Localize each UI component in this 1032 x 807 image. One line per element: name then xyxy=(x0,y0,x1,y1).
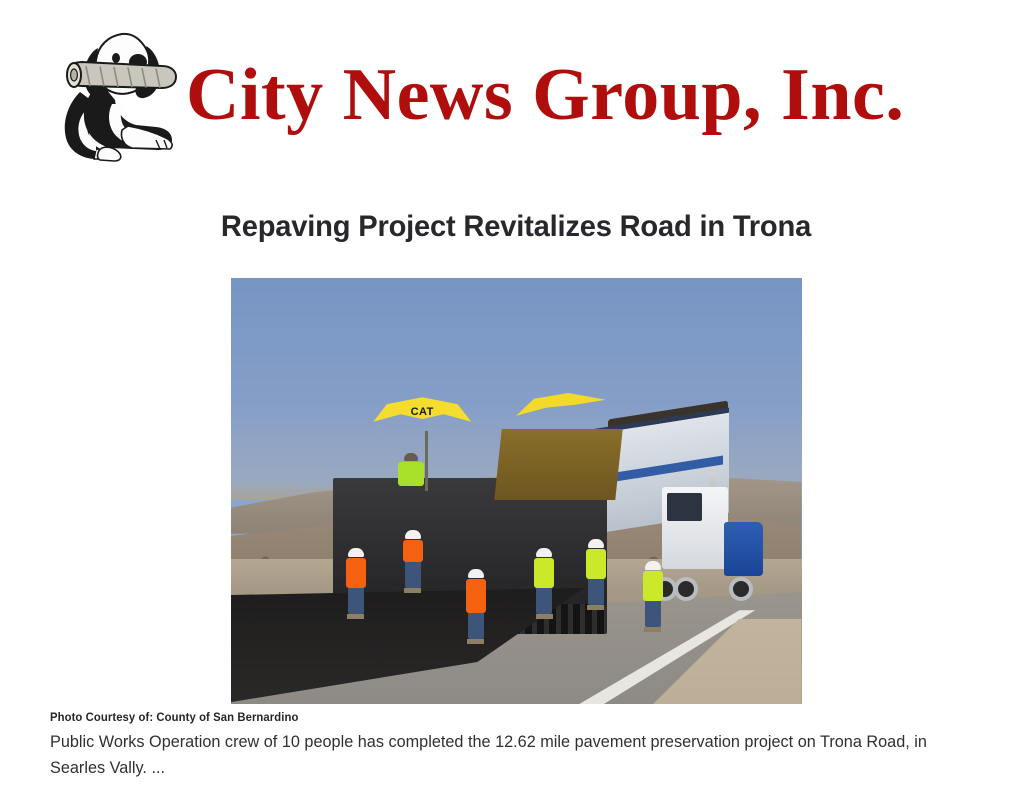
photo-worker-hardhat xyxy=(348,548,364,557)
masthead: City News Group, Inc. xyxy=(0,0,1032,178)
photo-truck-cab xyxy=(662,487,728,569)
photo-worker-hardhat xyxy=(468,569,484,578)
photo-paver-operator xyxy=(396,453,426,486)
photo-worker-legs xyxy=(588,579,604,605)
photo-worker-boots xyxy=(347,614,364,619)
photo-worker-boots xyxy=(467,639,484,644)
photo-truck-wheels xyxy=(651,565,760,601)
photo-worker-boots xyxy=(587,605,604,610)
site-logo[interactable]: City News Group, Inc. xyxy=(50,18,904,166)
photo-worker-hardhat xyxy=(536,548,552,557)
article-photo: CAT xyxy=(231,278,802,704)
photo-truck-window xyxy=(667,493,701,521)
photo-worker-vest xyxy=(586,549,606,579)
photo-umbrella-brand-label: CAT xyxy=(373,406,471,418)
photo-operator-vest xyxy=(398,462,424,486)
photo-worker-boots xyxy=(644,627,661,632)
photo-worker-vest xyxy=(534,558,554,588)
photo-paver-hopper xyxy=(494,429,622,500)
photo-truck-wheel xyxy=(674,577,698,601)
photo-worker-legs xyxy=(405,562,421,588)
photo-worker-vest xyxy=(346,558,366,588)
photo-worker-hardhat xyxy=(588,539,604,548)
photo-worker-vest xyxy=(403,540,423,562)
photo-worker-legs xyxy=(468,613,484,639)
photo-truck-wheel xyxy=(729,577,753,601)
photo-worker xyxy=(465,569,487,644)
article-headline: Repaving Project Revitalizes Road in Tro… xyxy=(15,210,1016,243)
photo-worker-legs xyxy=(645,601,661,627)
photo-worker xyxy=(533,548,555,619)
photo-operator-head xyxy=(404,453,418,461)
article-photo-row: CAT xyxy=(0,278,1032,704)
photo-credit: Photo Courtesy of: County of San Bernard… xyxy=(50,710,945,724)
photo-worker-boots xyxy=(404,588,421,593)
dog-with-newspaper-logo-icon xyxy=(50,18,182,166)
photo-worker xyxy=(345,548,367,619)
photo-worker-legs xyxy=(348,588,364,614)
photo-worker-legs xyxy=(536,588,552,614)
photo-worker-hardhat xyxy=(645,561,661,570)
photo-worker xyxy=(585,539,607,610)
photo-worker-boots xyxy=(536,614,553,619)
photo-worker-vest xyxy=(466,579,486,613)
photo-worker-hardhat xyxy=(405,530,421,539)
photo-worker xyxy=(642,561,664,632)
site-title: City News Group, Inc. xyxy=(186,58,904,132)
caption-block: Photo Courtesy of: County of San Bernard… xyxy=(0,710,1032,781)
photo-worker-vest xyxy=(643,571,663,601)
article-summary: Public Works Operation crew of 10 people… xyxy=(50,730,976,781)
photo-worker xyxy=(402,530,424,593)
